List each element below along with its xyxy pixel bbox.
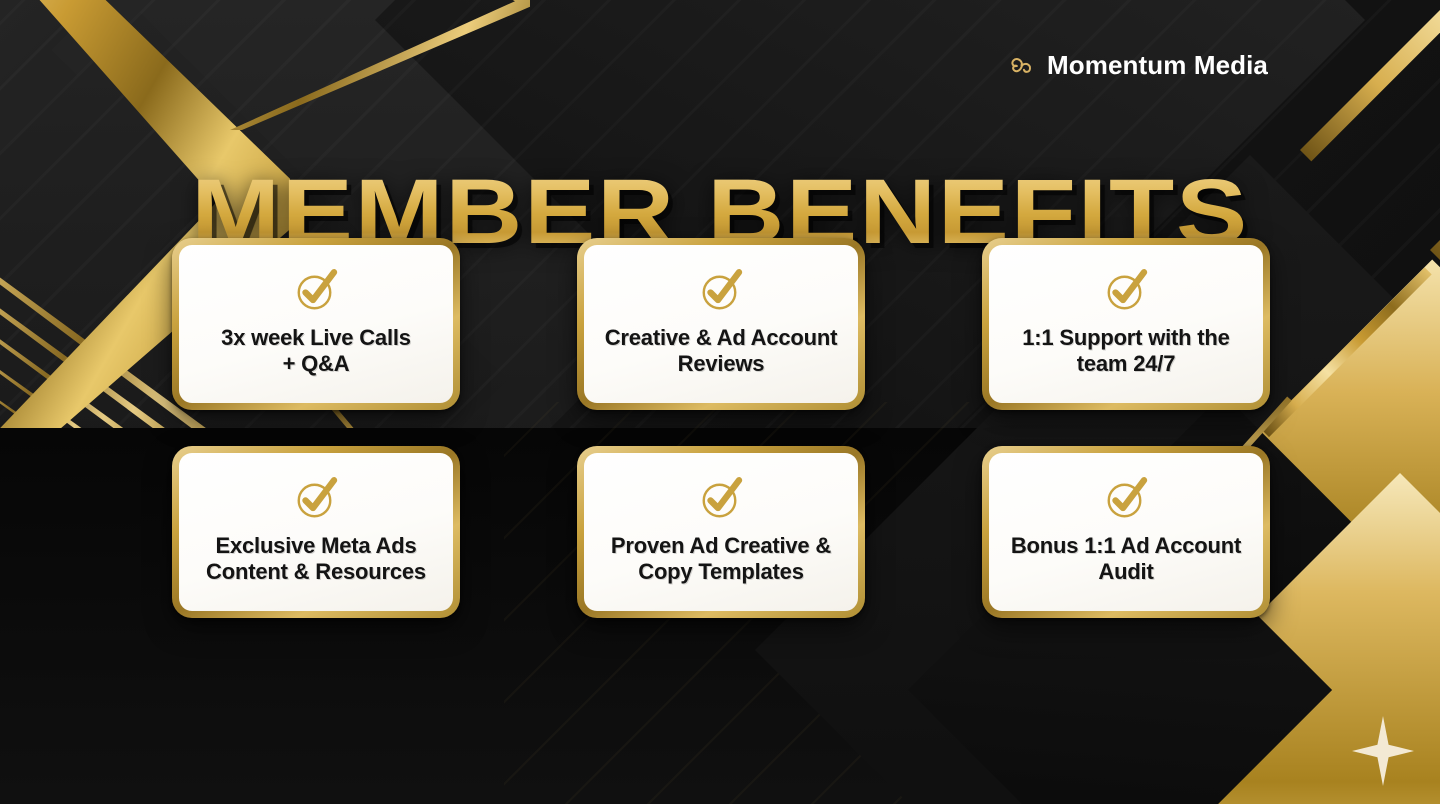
benefits-grid: 3x week Live Calls + Q&A Creative & Ad A… <box>172 238 1270 618</box>
benefit-label: Creative & Ad Account Reviews <box>605 325 838 378</box>
nested-chevron-icon <box>0 352 104 540</box>
benefit-card[interactable]: Exclusive Meta Ads Content & Resources <box>172 446 460 618</box>
benefit-card[interactable]: Proven Ad Creative & Copy Templates <box>577 446 865 618</box>
check-circle-icon <box>697 267 745 325</box>
brand-lockup: Momentum Media <box>1007 50 1268 81</box>
nested-chevron-icon <box>0 322 142 566</box>
benefit-card[interactable]: 3x week Live Calls + Q&A <box>172 238 460 410</box>
check-circle-icon <box>292 267 340 325</box>
benefit-card[interactable]: 1:1 Support with the team 24/7 <box>982 238 1270 410</box>
benefit-label: 1:1 Support with the team 24/7 <box>1022 325 1229 378</box>
benefit-label: Proven Ad Creative & Copy Templates <box>611 533 831 586</box>
check-circle-icon <box>697 475 745 533</box>
check-circle-icon <box>1102 267 1150 325</box>
benefit-card[interactable]: Bonus 1:1 Ad Account Audit <box>982 446 1270 618</box>
diagonal-gold-bar-icon <box>1300 0 1440 161</box>
four-point-star-icon <box>1352 716 1414 786</box>
check-circle-icon <box>1102 475 1150 533</box>
benefit-label: Bonus 1:1 Ad Account Audit <box>1011 533 1241 586</box>
top-gold-chevron-icon <box>230 0 530 130</box>
diagonal-gold-bar-icon <box>1262 267 1432 437</box>
check-circle-icon <box>292 475 340 533</box>
nested-chevron-icon <box>0 382 66 514</box>
benefit-label: Exclusive Meta Ads Content & Resources <box>206 533 426 586</box>
benefit-label: 3x week Live Calls + Q&A <box>221 325 411 378</box>
benefit-card[interactable]: Creative & Ad Account Reviews <box>577 238 865 410</box>
brand-name: Momentum Media <box>1047 50 1268 81</box>
slide-canvas: Momentum Media MEMBER BENEFITS 3x week L… <box>0 0 1440 804</box>
triskelion-spiral-icon <box>1007 51 1037 81</box>
nested-chevron-icon <box>0 292 180 592</box>
